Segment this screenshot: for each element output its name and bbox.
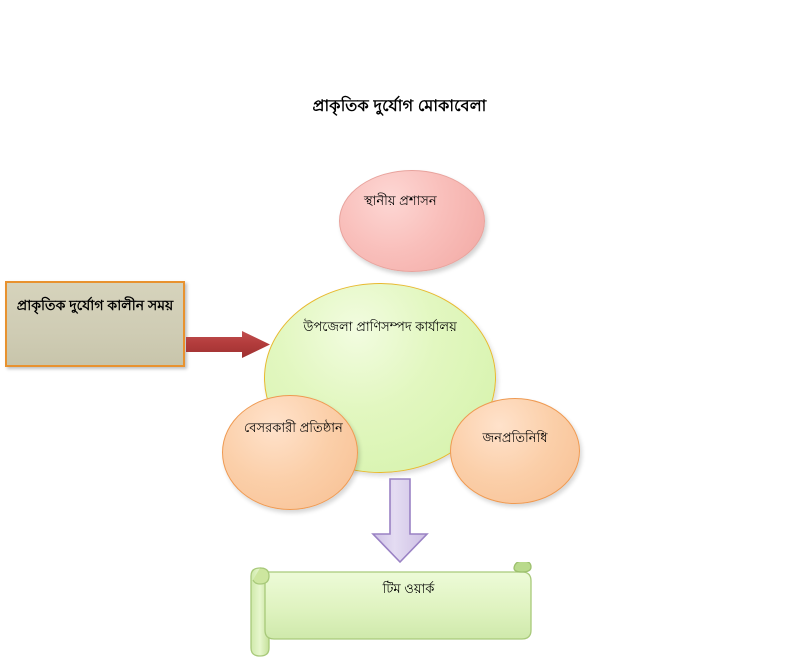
red-right-arrow — [186, 331, 270, 359]
page-title: প্রাকৃতিক দুর্যোগ মোকাবেলা — [0, 93, 799, 120]
source-box[interactable]: প্রাকৃতিক দুর্যোগ কালীন সময় — [5, 281, 185, 367]
node-center-office-label: উপজেলা প্রাণিসম্পদ কার্যালয় — [285, 318, 475, 337]
diagram-canvas: প্রাকৃতিক দুর্যোগ মোকাবেলা প্রাকৃতিক দুর… — [0, 0, 799, 660]
node-private-institution-label: বেসরকারী প্রতিষ্ঠান — [244, 419, 343, 438]
source-box-label: প্রাকৃতিক দুর্যোগ কালীন সময় — [11, 296, 179, 315]
arrow-right-icon — [186, 331, 270, 359]
scroll-shape-icon — [248, 562, 542, 658]
arrow-down-icon — [371, 478, 429, 564]
scroll-banner[interactable]: টিম ওয়ার্ক — [248, 562, 542, 658]
node-public-representative[interactable]: জনপ্রতিনিধি — [450, 398, 580, 504]
node-local-administration[interactable]: স্থানীয় প্রশাসন — [339, 170, 485, 272]
node-private-institution[interactable]: বেসরকারী প্রতিষ্ঠান — [222, 395, 358, 510]
node-public-representative-label: জনপ্রতিনিধি — [482, 429, 547, 448]
scroll-banner-label: টিম ওয়ার্ক — [306, 580, 511, 601]
node-local-administration-label: স্থানীয় প্রশাসন — [364, 192, 437, 211]
purple-down-arrow — [371, 478, 429, 564]
